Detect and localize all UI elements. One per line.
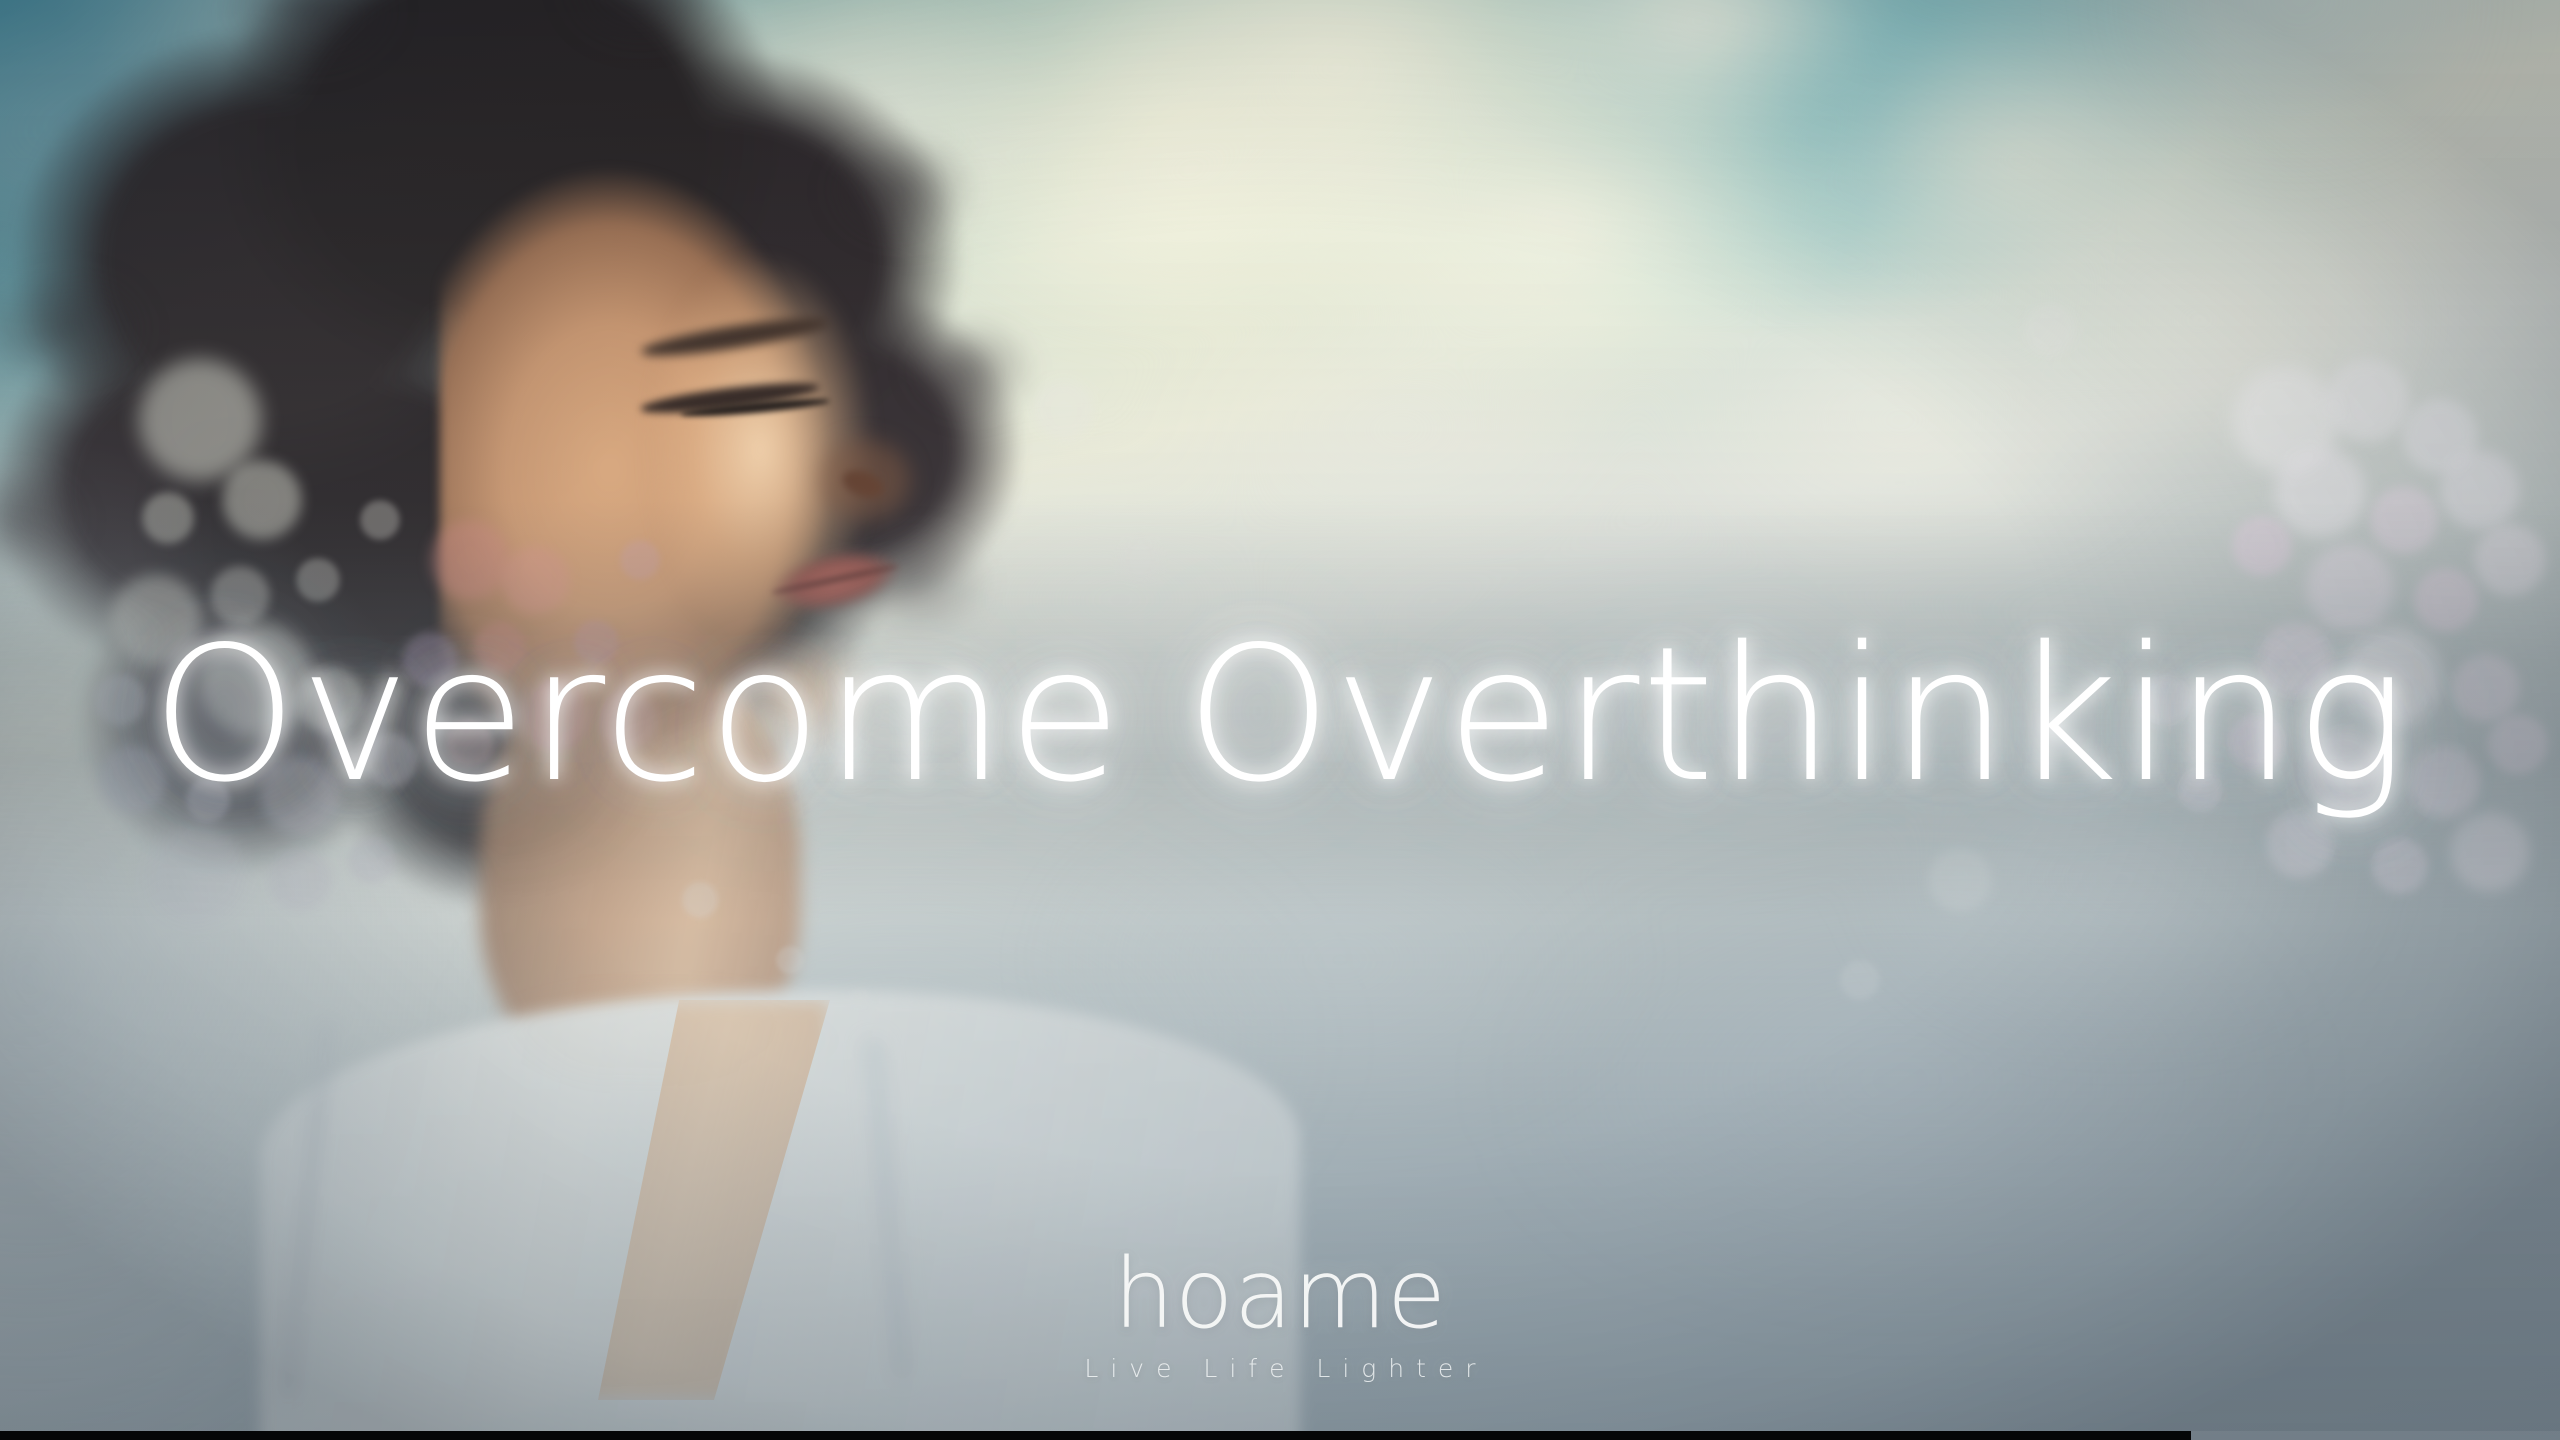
- video-progress-fill: [0, 1431, 2191, 1440]
- video-progress-track[interactable]: [0, 1431, 2560, 1440]
- logo-wordmark: hoame: [0, 1250, 2560, 1338]
- brand-logo: hoame Live Life Lighter: [0, 1250, 2560, 1383]
- video-frame: Overcome Overthinking hoame Live Life Li…: [0, 0, 2560, 1440]
- logo-tagline: Live Life Lighter: [0, 1354, 2560, 1383]
- headline-title: Overcome Overthinking: [0, 622, 2560, 808]
